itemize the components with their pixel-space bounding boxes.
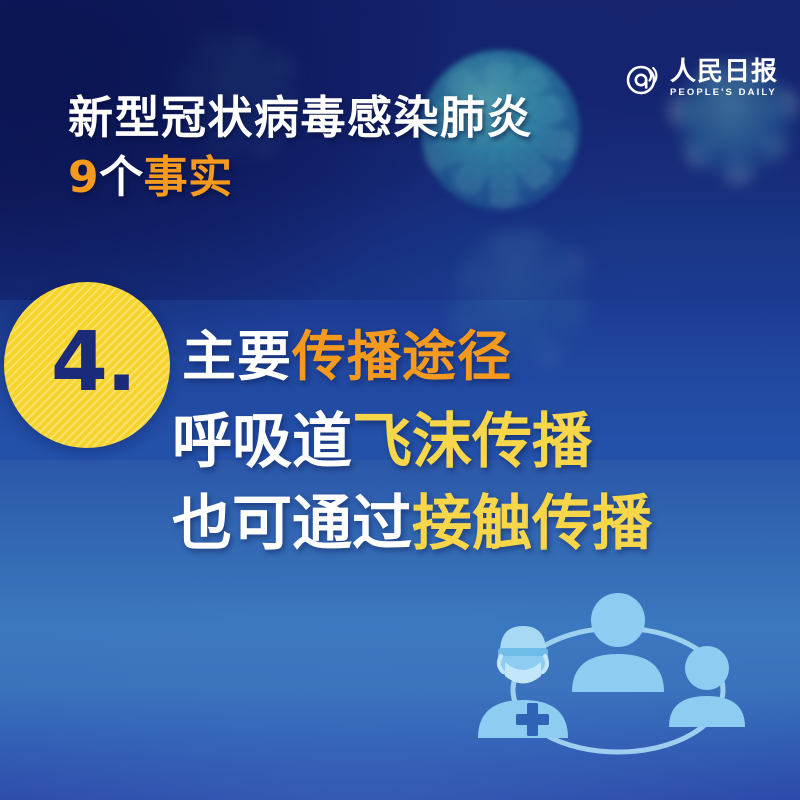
headline-unit: 个 <box>99 152 144 203</box>
headline-title: 新型冠状病毒感染肺炎 <box>68 95 728 140</box>
headline-word: 事实 <box>144 152 233 203</box>
headline-number: 9 <box>68 152 99 203</box>
logo-name-cn: 人民日报 <box>670 58 778 84</box>
poster-canvas: 人民日报 PEOPLE'S DAILY 新型冠状病毒感染肺炎 9个事实 4. 主… <box>0 0 800 800</box>
at-sign-with-signal-icon <box>625 60 663 98</box>
transmission-illustration <box>460 580 780 795</box>
fact-line-1: 主要传播途径 <box>182 330 800 384</box>
headline-block: 新型冠状病毒感染肺炎 9个事实 <box>68 95 728 200</box>
fact-body-text: 主要传播途径 呼吸道飞沫传播 也可通过接触传播 <box>182 330 800 554</box>
fact-line-2-accent: 飞沫传播 <box>352 407 592 477</box>
fact-number-badge: 4. <box>4 282 170 448</box>
person-figure-right <box>669 646 745 727</box>
fact-line-2-white: 呼吸道 <box>172 407 352 477</box>
fact-line-1-white: 主要 <box>182 325 292 388</box>
fact-number: 4. <box>51 322 135 404</box>
fact-line-2: 呼吸道飞沫传播 <box>172 412 800 472</box>
fact-line-3: 也可通过接触传播 <box>172 494 800 554</box>
person-figure-center <box>572 593 664 692</box>
peoples-daily-logo: 人民日报 PEOPLE'S DAILY <box>625 58 778 98</box>
headline-subtitle: 9个事实 <box>68 156 728 200</box>
fact-line-3-accent: 接触传播 <box>412 489 652 559</box>
fact-line-1-accent: 传播途径 <box>292 325 512 388</box>
fact-line-3-white: 也可通过 <box>172 489 412 559</box>
